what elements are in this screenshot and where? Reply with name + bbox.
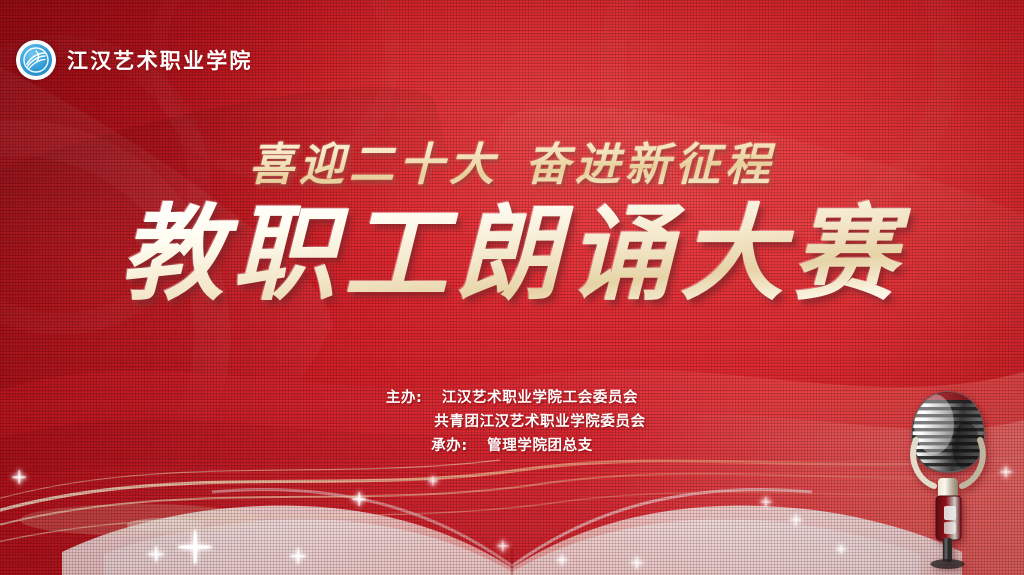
credit-value: 管理学院团总支 xyxy=(487,434,593,455)
credits-block: 主办: 江汉艺术职业学院工会委员会 共青团江汉艺术职业学院委员会 承办: 管理学… xyxy=(0,386,1024,455)
event-subtitle: 喜迎二十大奋进新征程 xyxy=(0,128,1024,193)
credit-label: 承办: xyxy=(431,434,487,455)
institution-name: 江汉艺术职业学院 xyxy=(67,45,253,75)
institution-logo: 江汉艺术职业学院 xyxy=(16,40,253,80)
subtitle-part-2: 奋进新征程 xyxy=(525,138,775,191)
event-backdrop-poster: 江汉艺术职业学院 喜迎二十大奋进新征程 教职工朗诵大赛 主办: 江汉艺术职业学院… xyxy=(0,0,1024,575)
credit-line: 承办: 管理学院团总支 xyxy=(431,434,593,455)
credit-label: 主办: xyxy=(386,386,442,407)
event-main-title: 教职工朗诵大赛 xyxy=(0,200,1024,309)
credit-line: 主办: 江汉艺术职业学院工会委员会 xyxy=(386,386,638,407)
subtitle-part-1: 喜迎二十大 xyxy=(249,138,499,191)
credit-line: 共青团江汉艺术职业学院委员会 xyxy=(378,410,645,431)
school-emblem-icon xyxy=(16,40,56,80)
credit-value: 江汉艺术职业学院工会委员会 xyxy=(442,386,638,407)
credit-value: 共青团江汉艺术职业学院委员会 xyxy=(434,410,645,431)
